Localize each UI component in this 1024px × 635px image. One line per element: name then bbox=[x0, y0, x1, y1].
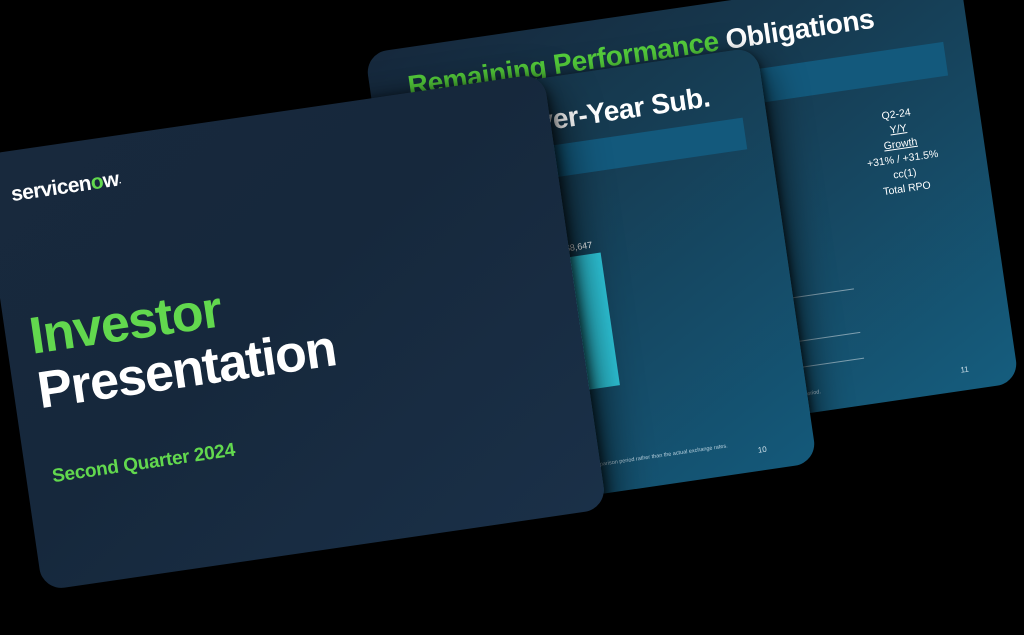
logo-text-pre: servicen bbox=[10, 172, 93, 206]
currency-page-number: 10 bbox=[757, 445, 767, 455]
servicenow-logo: servicenow. bbox=[10, 167, 123, 207]
slide-deck-stage: Remaining Performance Obligations (RPO) … bbox=[0, 0, 1024, 635]
slide-title-cover[interactable]: servicenow. Investor Presentation Second… bbox=[0, 73, 607, 591]
logo-registered-mark: . bbox=[118, 175, 121, 185]
rpo-growth-callout: Q2-24 Y/Y Growth +31% / +31.5% cc(1) Tot… bbox=[831, 98, 973, 205]
title-subheading: Second Quarter 2024 bbox=[51, 440, 237, 488]
rpo-page-number: 11 bbox=[960, 365, 970, 375]
page-title: Investor Presentation bbox=[26, 238, 537, 419]
